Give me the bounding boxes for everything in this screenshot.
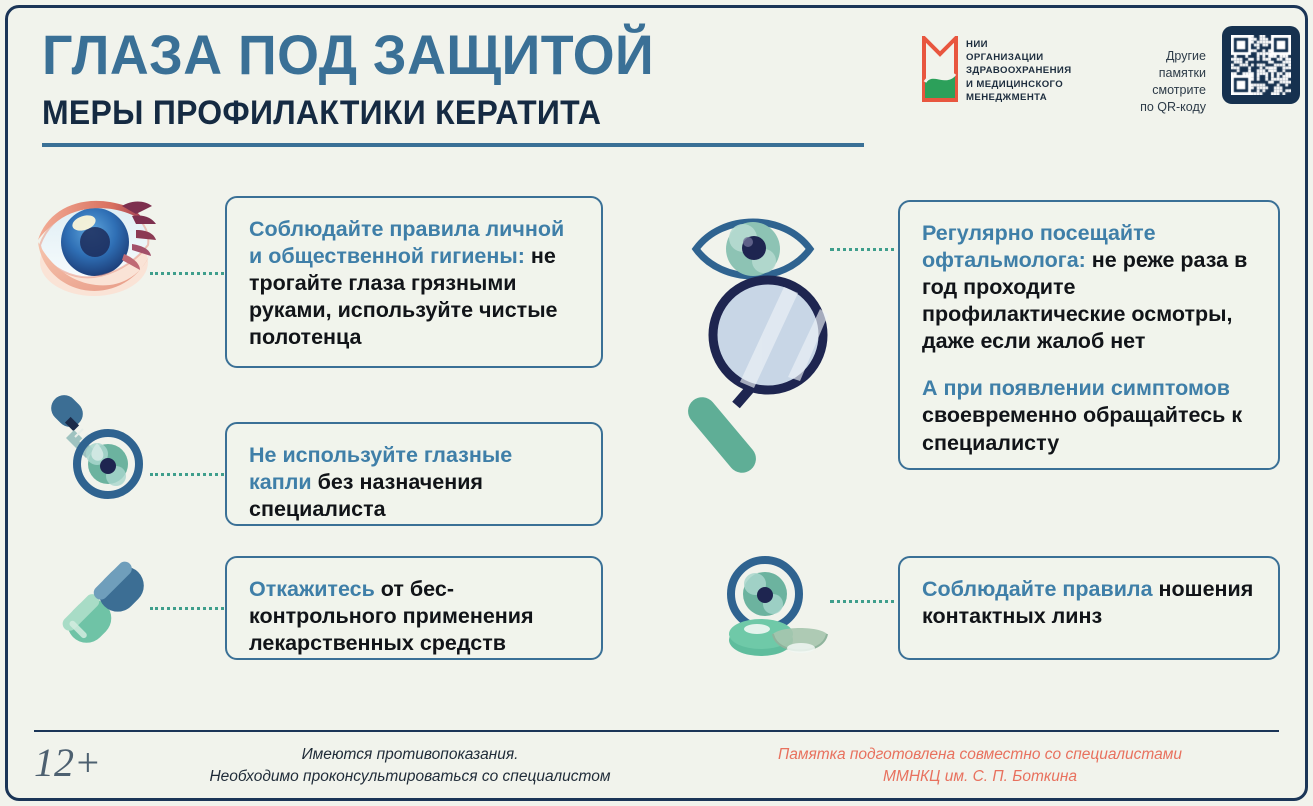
eye-drops-icon [42, 388, 162, 500]
age-rating-badge: 12+ [34, 743, 144, 783]
credit-text: Памятка подготовлена совместно со специа… [680, 744, 1280, 788]
advice-card-hygiene: Соблюдайте правила личной и общественной… [225, 196, 603, 368]
logo-line-5: МЕНЕДЖМЕНТА [966, 91, 1096, 104]
logo-line-3: ЗДРАВООХРАНЕНИЯ [966, 64, 1096, 77]
advice-card-medication: Откажитесь от бес­контрольного применени… [225, 556, 603, 660]
advice-text-secondary: А при появлении симптомов своевре­менно … [922, 375, 1256, 456]
magnifier-eye-icon [688, 205, 838, 495]
advice-card-eye-drops: Не используйте глазные капли без назначе… [225, 422, 603, 526]
capsule-pill-icon [45, 548, 165, 660]
connector-line-3 [150, 607, 230, 610]
institute-logo: НИИ ОРГАНИЗАЦИИ ЗДРАВООХРАНЕНИЯ И МЕДИЦИ… [922, 36, 1092, 108]
logo-line-4: И МЕДИЦИНСКОГО [966, 78, 1096, 91]
logo-mark-icon [922, 36, 958, 102]
advice-text: Соблюдайте правила ношения контактных ли… [922, 576, 1256, 630]
advice-rest-secondary: своевре­менно обращайтесь к специалисту [922, 403, 1242, 454]
page-title: ГЛАЗА ПОД ЗАЩИТОЙ [42, 26, 772, 83]
logo-line-1: НИИ [966, 38, 1096, 51]
advice-text: Откажитесь от бес­контрольного применени… [249, 576, 579, 657]
realistic-eye-icon [32, 190, 157, 310]
page-subtitle: МЕРЫ ПРОФИЛАКТИКИ КЕРАТИТА [42, 96, 756, 130]
qr-caption: Другие памятки смотрите по QR-коду [1104, 48, 1206, 116]
connector-line-1 [150, 272, 230, 275]
connector-line-2 [150, 473, 230, 476]
logo-text: НИИ ОРГАНИЗАЦИИ ЗДРАВООХРАНЕНИЯ И МЕДИЦИ… [966, 38, 1096, 104]
advice-highlight: Откажитесь [249, 577, 375, 601]
advice-card-contact-lenses: Соблюдайте правила ношения контактных ли… [898, 556, 1280, 660]
advice-highlight-secondary: А при появлении симптомов [922, 376, 1230, 400]
advice-highlight: Соблюдайте правила [922, 577, 1153, 601]
advice-text: Соблюдайте правила личной и общественной… [249, 216, 579, 351]
contact-lens-icon [715, 552, 837, 664]
qr-code[interactable] [1222, 26, 1300, 104]
disclaimer-text: Имеются противопоказания. Необходимо про… [160, 744, 660, 788]
advice-highlight: Соблюдайте правила личной и общественной… [249, 217, 564, 268]
connector-line-5 [830, 600, 902, 603]
advice-card-ophthalmologist: Регулярно посещайте офтальмолога: не реж… [898, 200, 1280, 470]
advice-text: Не используйте глазные капли без назначе… [249, 442, 579, 523]
logo-line-2: ОРГАНИЗАЦИИ [966, 51, 1096, 64]
advice-text: Регулярно посещайте офтальмолога: не реж… [922, 220, 1256, 355]
connector-line-4 [830, 248, 902, 251]
title-underline [42, 143, 864, 147]
infographic-page: ГЛАЗА ПОД ЗАЩИТОЙ МЕРЫ ПРОФИЛАКТИКИ КЕРА… [0, 0, 1313, 806]
footer-divider [34, 730, 1279, 732]
